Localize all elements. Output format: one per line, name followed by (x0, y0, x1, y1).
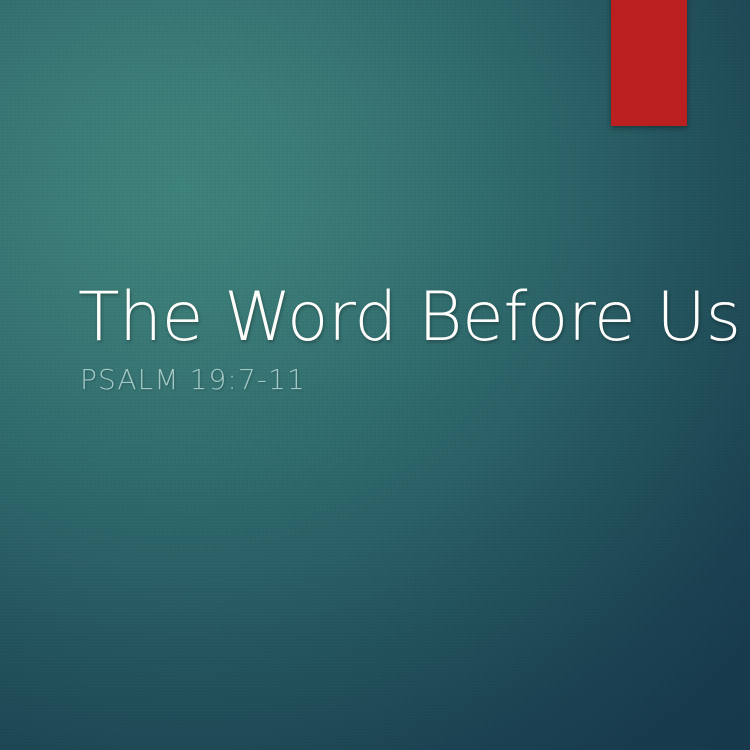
red-accent-rectangle (611, 0, 687, 126)
slide-title: The Word Before Us (78, 284, 698, 352)
presentation-slide: The Word Before Us PSALM 19:7-11 (0, 0, 750, 750)
slide-subtitle: PSALM 19:7-11 (80, 366, 698, 394)
slide-text-block: The Word Before Us PSALM 19:7-11 (78, 284, 698, 394)
